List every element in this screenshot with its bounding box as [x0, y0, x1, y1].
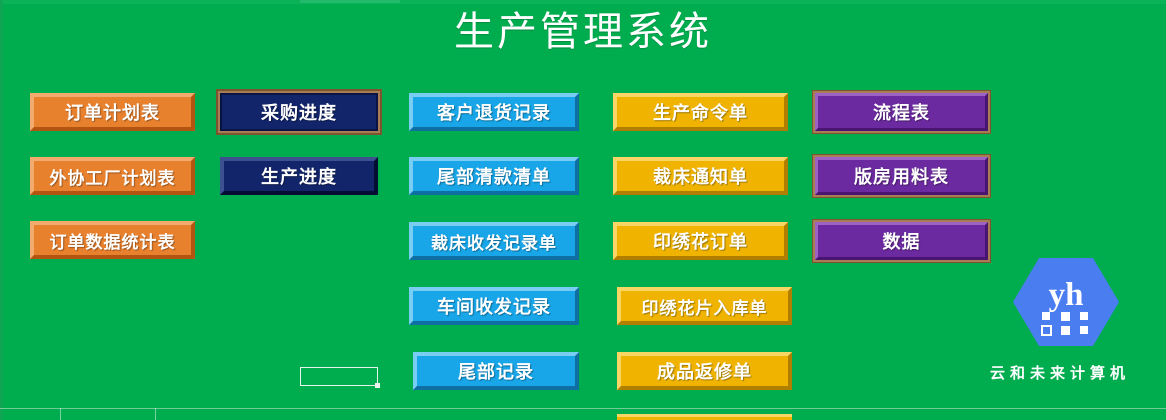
menu-button-gold-3[interactable]: 印绣花订单 — [613, 222, 788, 260]
menu-button-purple-3[interactable]: 数据 — [815, 222, 988, 260]
menu-button-cyan-2[interactable]: 尾部清款清单 — [409, 157, 579, 195]
menu-button-purple-1[interactable]: 流程表 — [815, 93, 988, 131]
menu-button-cyan-5[interactable]: 尾部记录 — [413, 352, 579, 390]
menu-button-cyan-3[interactable]: 裁床收发记录单 — [409, 222, 579, 260]
menu-button-gold-1[interactable]: 生产命令单 — [613, 93, 788, 131]
bottom-grid-line — [155, 408, 156, 420]
menu-button-orange-1[interactable]: 订单计划表 — [30, 93, 195, 131]
bottom-divider — [0, 408, 1166, 409]
bottom-grid-line — [60, 408, 61, 420]
top-band-accent — [300, 0, 400, 3]
menu-button-gold-2[interactable]: 裁床通知单 — [613, 157, 788, 195]
empty-selection-box[interactable] — [300, 367, 378, 386]
menu-button-purple-2[interactable]: 版房用料表 — [815, 157, 988, 195]
company-logo: yh — [1012, 256, 1120, 348]
page-title: 生产管理系统 — [0, 8, 1166, 56]
svg-text:yh: yh — [1049, 277, 1084, 313]
company-name: 云和未来计算机 — [955, 362, 1165, 383]
left-edge-strip — [0, 0, 3, 420]
menu-button-orange-2[interactable]: 外协工厂计划表 — [30, 157, 195, 195]
resize-handle[interactable] — [375, 383, 380, 388]
partially-visible-button[interactable] — [617, 414, 792, 420]
top-band — [0, 0, 1166, 4]
menu-button-gold-5[interactable]: 成品返修单 — [617, 352, 792, 390]
menu-button-navy-2[interactable]: 生产进度 — [220, 157, 378, 195]
menu-button-cyan-4[interactable]: 车间收发记录 — [409, 287, 579, 325]
hexagon-icon: yh — [1012, 256, 1120, 348]
production-management-dashboard: 生产管理系统 订单计划表外协工厂计划表订单数据统计表采购进度生产进度客户退货记录… — [0, 0, 1166, 420]
menu-button-navy-1[interactable]: 采购进度 — [220, 93, 378, 131]
menu-button-orange-3[interactable]: 订单数据统计表 — [30, 221, 195, 259]
menu-button-gold-4[interactable]: 印绣花片入库单 — [617, 287, 792, 325]
menu-button-cyan-1[interactable]: 客户退货记录 — [409, 93, 579, 131]
